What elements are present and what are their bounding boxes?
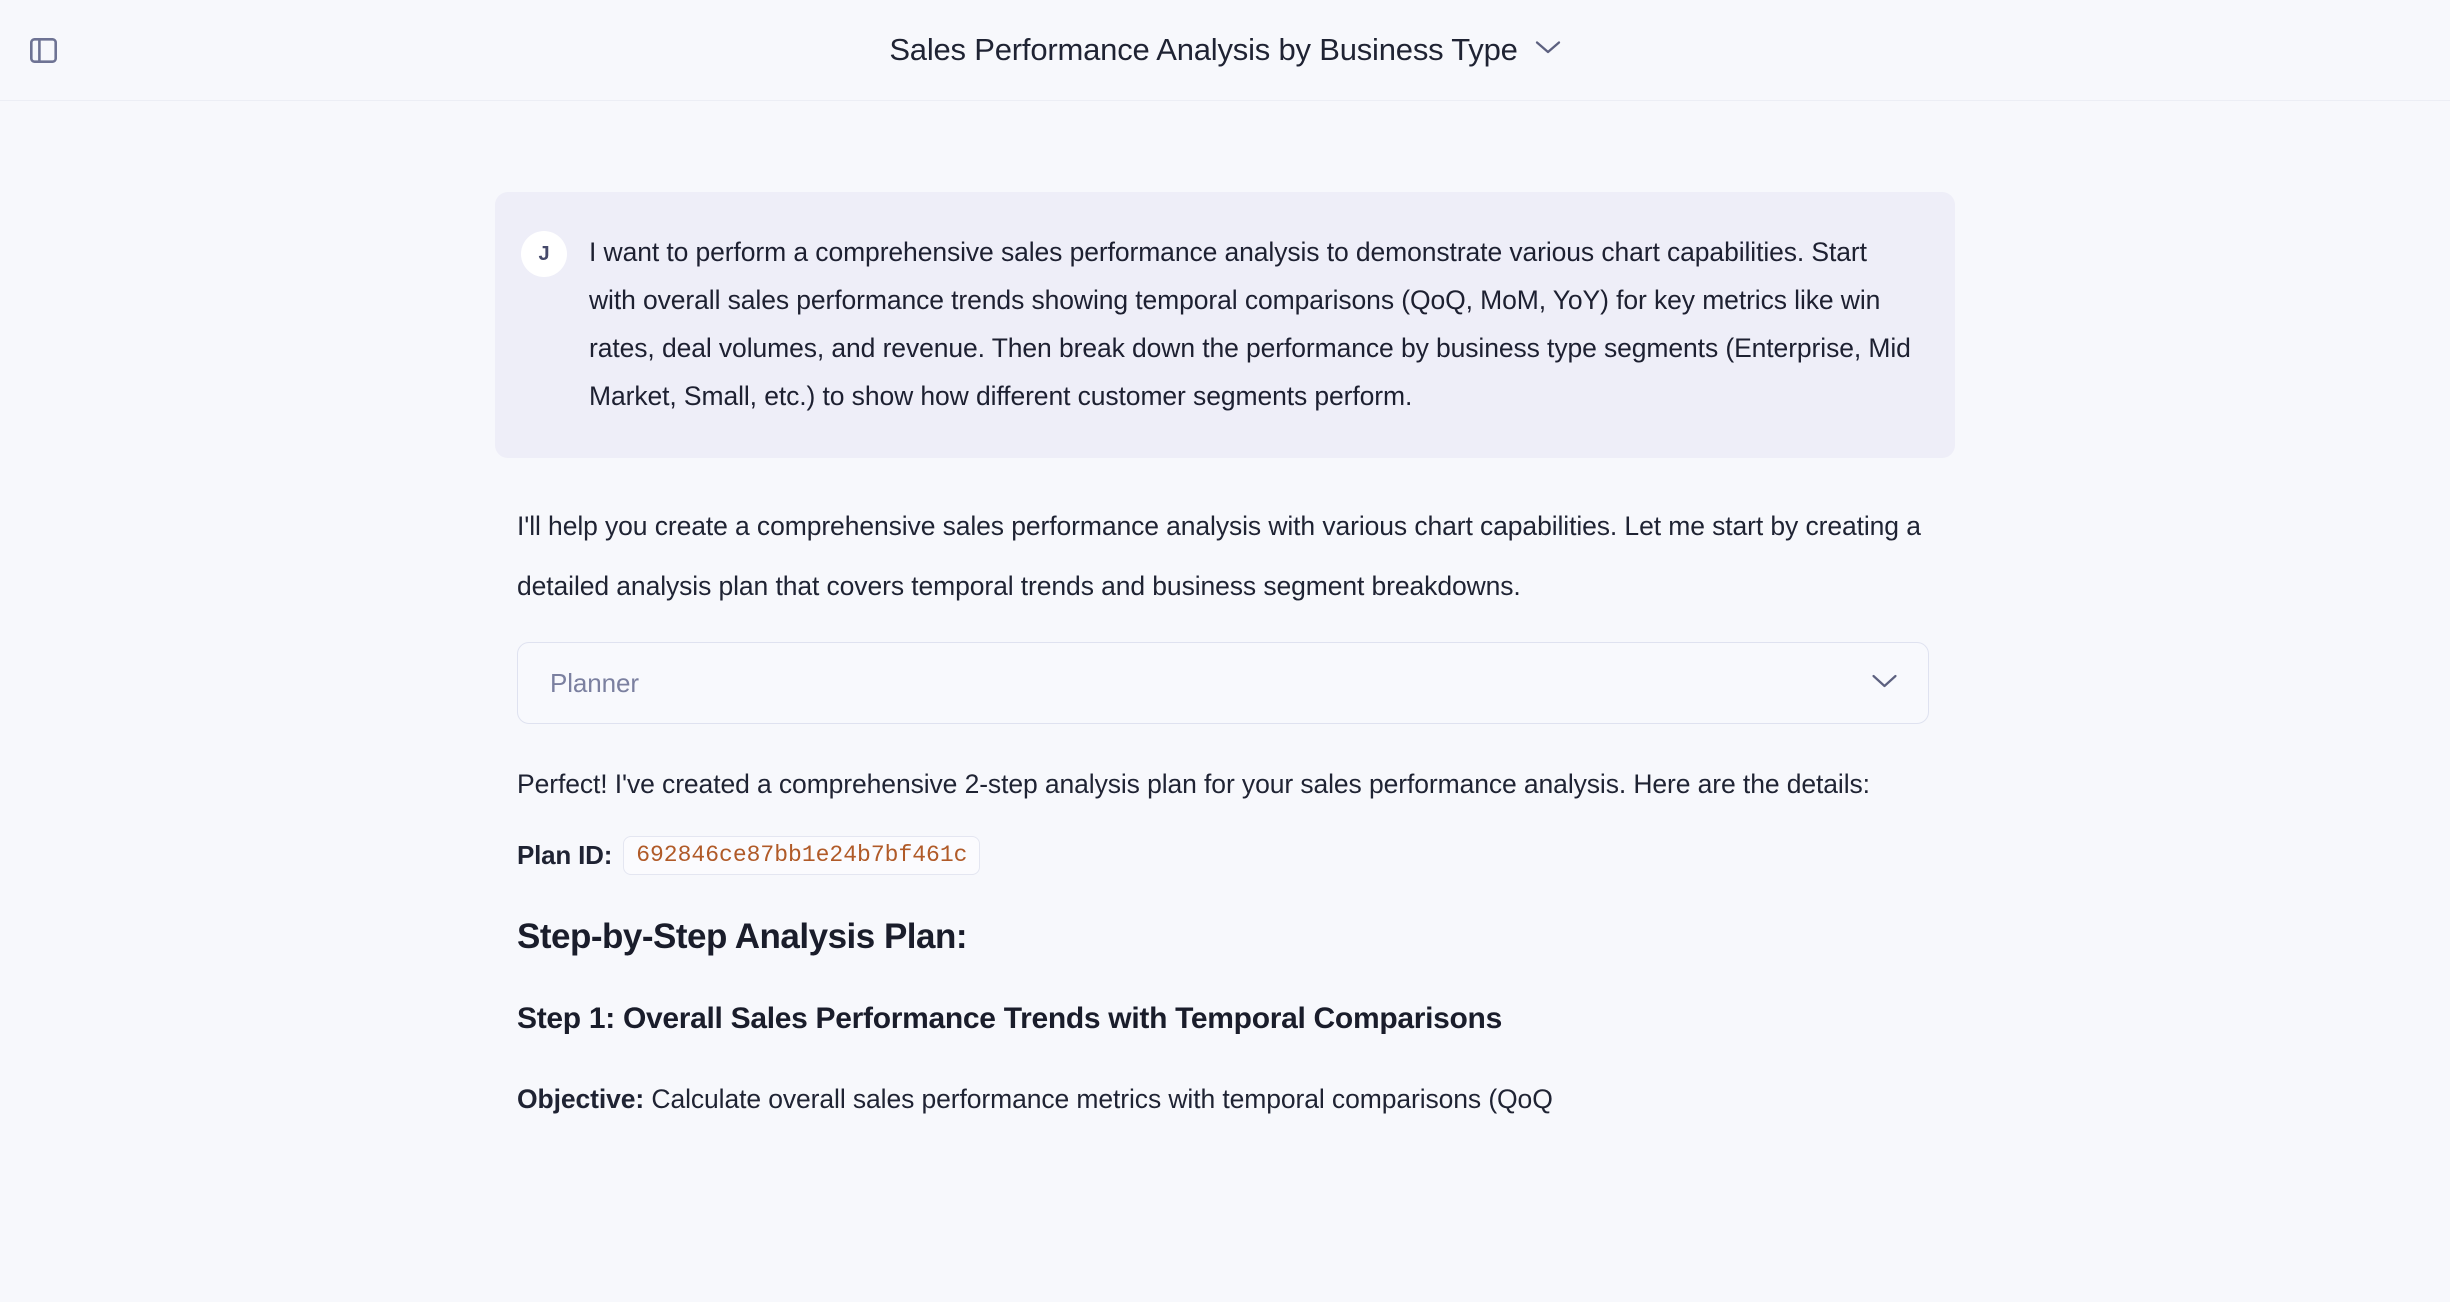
assistant-confirmation-paragraph: Perfect! I've created a comprehensive 2-… xyxy=(517,754,1933,814)
message-thread: J I want to perform a comprehensive sale… xyxy=(495,101,1955,1125)
plan-id-value[interactable]: 692846ce87bb1e24b7bf461c xyxy=(623,836,980,875)
page-title: Sales Performance Analysis by Business T… xyxy=(889,32,1517,68)
conversation-scroll-area[interactable]: J I want to perform a comprehensive sale… xyxy=(0,101,2450,1302)
avatar: J xyxy=(521,231,567,277)
objective-text: Calculate overall sales performance metr… xyxy=(644,1084,1553,1114)
header-title-dropdown[interactable]: Sales Performance Analysis by Business T… xyxy=(889,32,1560,68)
step-1-heading: Step 1: Overall Sales Performance Trends… xyxy=(517,993,1637,1045)
step-1-objective: Objective: Calculate overall sales perfo… xyxy=(517,1073,1933,1125)
user-message: J I want to perform a comprehensive sale… xyxy=(495,192,1955,458)
objective-label: Objective: xyxy=(517,1084,644,1114)
plan-id-label: Plan ID: xyxy=(517,840,612,871)
panel-left-icon xyxy=(30,38,57,63)
chevron-down-icon[interactable] xyxy=(1871,673,1898,694)
assistant-intro-paragraph: I'll help you create a comprehensive sal… xyxy=(517,496,1933,616)
chevron-down-icon[interactable] xyxy=(1535,40,1561,60)
assistant-message: I'll help you create a comprehensive sal… xyxy=(495,496,1955,1125)
app-header: Sales Performance Analysis by Business T… xyxy=(0,0,2450,101)
sidebar-toggle-button[interactable] xyxy=(22,29,64,71)
user-message-text: I want to perform a comprehensive sales … xyxy=(589,228,1917,420)
planner-label: Planner xyxy=(550,668,639,699)
plan-id-row: Plan ID: 692846ce87bb1e24b7bf461c xyxy=(517,836,1933,875)
plan-heading: Step-by-Step Analysis Plan: xyxy=(517,917,1933,957)
planner-collapsible[interactable]: Planner xyxy=(517,642,1929,724)
